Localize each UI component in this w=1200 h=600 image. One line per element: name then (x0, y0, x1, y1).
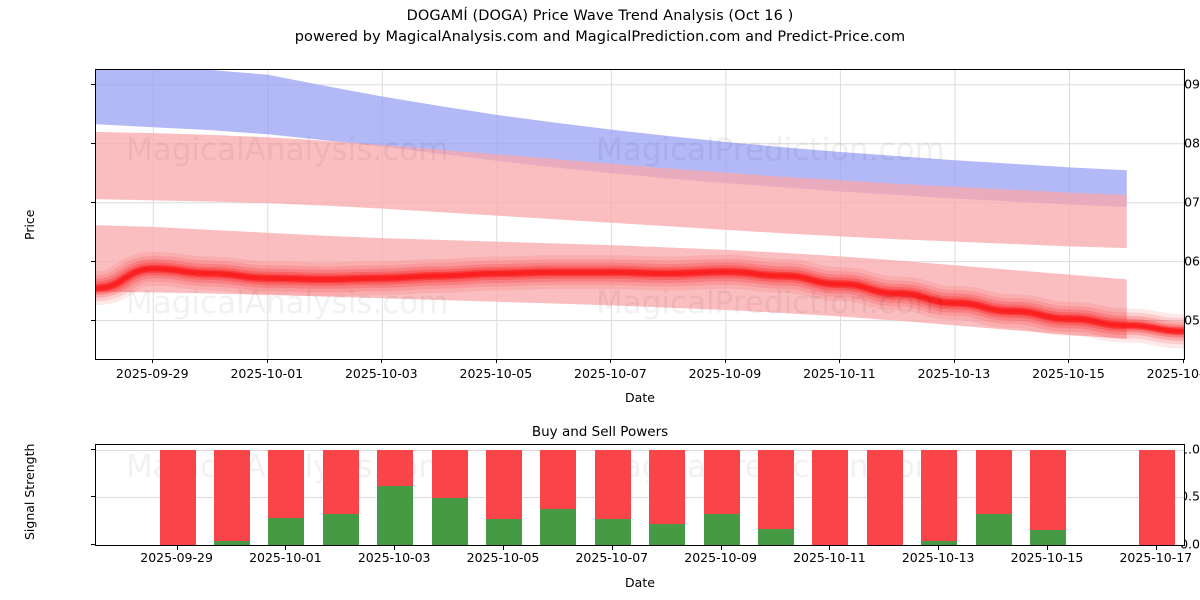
signal-bar[interactable] (867, 450, 903, 545)
price-x-tick: 2025-10-15 (1013, 366, 1123, 381)
buy-sell-title: Buy and Sell Powers (0, 424, 1200, 440)
sell-power-segment (921, 450, 957, 541)
signal-x-tick-mark (177, 546, 178, 550)
buy-power-segment (214, 541, 250, 545)
sell-power-segment (1030, 450, 1066, 530)
signal-strength-axis-label: Signal Strength (22, 444, 37, 540)
signal-bar[interactable] (323, 450, 359, 545)
price-x-tick: 2025-10-07 (555, 366, 665, 381)
signal-x-tick-mark (829, 546, 830, 550)
sell-power-segment (160, 450, 196, 545)
signal-x-tick-mark (1047, 546, 1048, 550)
signal-x-tick-mark (503, 546, 504, 550)
signal-bar[interactable] (649, 450, 685, 545)
signal-gridline (96, 450, 1184, 451)
signal-x-tick: 2025-10-15 (992, 550, 1102, 565)
signal-x-tick-mark (1156, 546, 1157, 550)
signal-gridline (96, 545, 1184, 546)
sell-power-segment (377, 450, 413, 486)
price-x-tick: 2025-10-03 (326, 366, 436, 381)
price-x-tick: 2025-10-11 (784, 366, 894, 381)
buy-power-segment (595, 519, 631, 545)
signal-x-tick: 2025-10-05 (448, 550, 558, 565)
signal-x-tick: 2025-10-01 (230, 550, 340, 565)
signal-bar[interactable] (758, 450, 794, 545)
buy-power-segment (1030, 530, 1066, 545)
signal-x-tick-mark (938, 546, 939, 550)
sell-power-segment (323, 450, 359, 514)
sell-power-segment (540, 450, 576, 509)
buy-power-segment (377, 486, 413, 545)
sell-power-segment (595, 450, 631, 520)
sell-power-segment (976, 450, 1012, 514)
sell-power-segment (758, 450, 794, 529)
sell-power-segment (649, 450, 685, 524)
signal-x-tick: 2025-10-07 (557, 550, 667, 565)
signal-x-tick: 2025-10-09 (666, 550, 776, 565)
chart-page: DOGAMÍ (DOGA) Price Wave Trend Analysis … (0, 0, 1200, 600)
sell-power-segment (812, 450, 848, 545)
sell-power-segment (214, 450, 250, 541)
buy-power-segment (649, 524, 685, 545)
buy-power-segment (268, 518, 304, 545)
signal-x-tick: 2025-10-13 (883, 550, 993, 565)
signal-bar[interactable] (432, 450, 468, 545)
buy-power-segment (758, 529, 794, 545)
signal-x-tick: 2025-10-03 (339, 550, 449, 565)
price-x-tick: 2025-10-01 (212, 366, 322, 381)
signal-x-tick-mark (612, 546, 613, 550)
signal-bar[interactable] (268, 450, 304, 545)
price-wave-panel: Price 0.00050.00060.00070.00080.0009 202… (0, 0, 1200, 400)
signal-bar[interactable] (160, 450, 196, 545)
buy-power-segment (976, 514, 1012, 545)
buy-power-segment (323, 514, 359, 545)
sell-power-segment (432, 450, 468, 499)
signal-bar[interactable] (704, 450, 740, 545)
buy-power-segment (704, 514, 740, 545)
price-x-tick: 2025-09-29 (97, 366, 207, 381)
price-wave-svg (96, 70, 1184, 359)
signal-x-tick-mark (394, 546, 395, 550)
signal-bar[interactable] (486, 450, 522, 545)
signal-bar[interactable] (921, 450, 957, 545)
buy-power-segment (432, 498, 468, 545)
buy-sell-panel: Buy and Sell Powers Signal Strength 0.00… (0, 410, 1200, 600)
signal-x-tick: 2025-10-17 (1101, 550, 1200, 565)
sell-power-segment (704, 450, 740, 514)
signal-bar[interactable] (976, 450, 1012, 545)
bars-layer (96, 445, 1184, 545)
price-x-tick: 2025-10-05 (441, 366, 551, 381)
signal-gridline (96, 497, 1184, 498)
signal-x-axis-title: Date (95, 575, 1185, 590)
signal-x-tick-mark (285, 546, 286, 550)
signal-bar[interactable] (1139, 450, 1175, 545)
signal-x-tick: 2025-10-11 (774, 550, 884, 565)
buy-power-segment (540, 509, 576, 545)
signal-x-tick: 2025-09-29 (122, 550, 232, 565)
signal-bar[interactable] (1030, 450, 1066, 545)
price-x-tick: 2025-10-13 (899, 366, 1009, 381)
buy-sell-plot-area: MagicalAnalysis.com MagicalPrediction.co… (95, 444, 1185, 546)
signal-bar[interactable] (540, 450, 576, 545)
sell-power-segment (1139, 450, 1175, 545)
price-axis-label: Price (22, 210, 37, 241)
buy-power-segment (921, 541, 957, 545)
signal-bar[interactable] (812, 450, 848, 545)
buy-power-segment (486, 519, 522, 545)
price-x-tick: 2025-10-09 (670, 366, 780, 381)
signal-x-tick-mark (721, 546, 722, 550)
signal-bar[interactable] (595, 450, 631, 545)
signal-bar[interactable] (377, 450, 413, 545)
sell-power-segment (867, 450, 903, 545)
price-x-tick: 2025-10-17 (1128, 366, 1200, 381)
sell-power-segment (486, 450, 522, 520)
price-plot-area: MagicalAnalysis.com MagicalPrediction.co… (95, 69, 1185, 360)
signal-bar[interactable] (214, 450, 250, 545)
price-x-axis-title: Date (95, 390, 1185, 405)
sell-power-segment (268, 450, 304, 519)
